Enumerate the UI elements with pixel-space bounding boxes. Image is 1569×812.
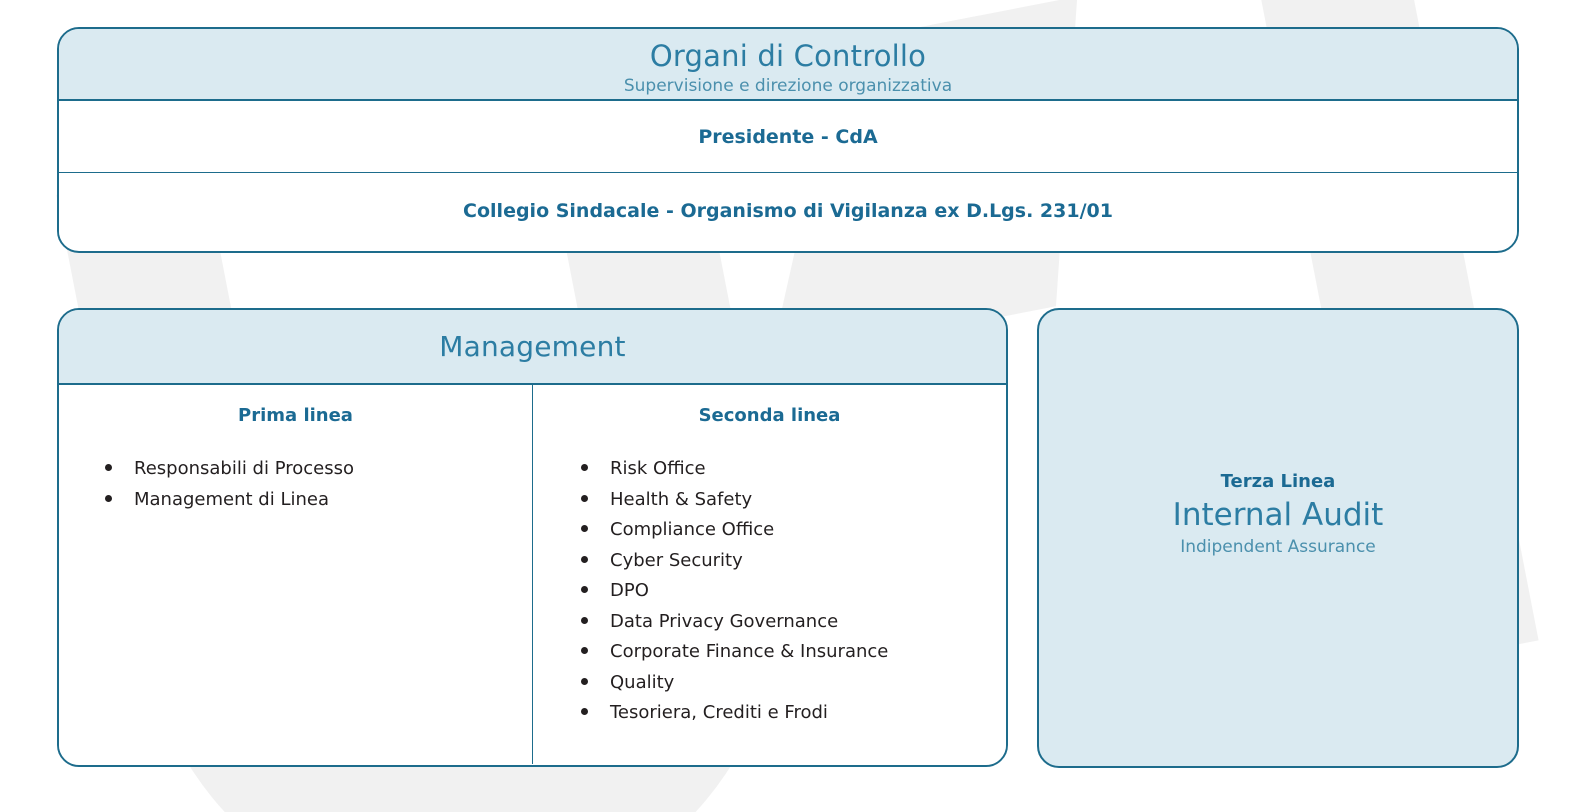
list-item: Tesoriera, Crediti e Frodi: [581, 698, 1006, 729]
governance-row-label: Collegio Sindacale - Organismo di Vigila…: [463, 200, 1113, 222]
internal-audit-content: Terza Linea Internal Audit Indipendent A…: [1173, 469, 1384, 559]
governance-title: Organi di Controllo: [59, 38, 1517, 74]
internal-audit-title: Internal Audit: [1173, 495, 1384, 535]
prima-linea-list: Responsabili di Processo Management di L…: [59, 454, 532, 515]
management-column-prima-linea: Prima linea Responsabili di Processo Man…: [59, 385, 532, 764]
list-item: Responsabili di Processo: [105, 454, 532, 485]
governance-row-presidente: Presidente - CdA: [59, 101, 1517, 173]
list-item: Corporate Finance & Insurance: [581, 637, 1006, 668]
internal-audit-eyebrow: Terza Linea: [1173, 469, 1384, 495]
list-item: Cyber Security: [581, 546, 1006, 577]
management-column-title: Prima linea: [59, 405, 532, 426]
management-columns: Prima linea Responsabili di Processo Man…: [59, 385, 1006, 764]
seconda-linea-list: Risk Office Health & Safety Compliance O…: [533, 454, 1006, 729]
governance-card-header: Organi di Controllo Supervisione e direz…: [59, 29, 1517, 101]
governance-subtitle: Supervisione e direzione organizzativa: [59, 74, 1517, 98]
list-item: DPO: [581, 576, 1006, 607]
list-item: Management di Linea: [105, 485, 532, 516]
list-item: Risk Office: [581, 454, 1006, 485]
management-card: Management Prima linea Responsabili di P…: [57, 308, 1008, 767]
management-card-header: Management: [59, 310, 1006, 385]
governance-card: Organi di Controllo Supervisione e direz…: [57, 27, 1519, 253]
diagram-canvas: Organi di Controllo Supervisione e direz…: [0, 0, 1569, 812]
governance-row-collegio: Collegio Sindacale - Organismo di Vigila…: [59, 173, 1517, 249]
list-item: Quality: [581, 668, 1006, 699]
list-item: Health & Safety: [581, 485, 1006, 516]
management-column-title: Seconda linea: [533, 405, 1006, 426]
governance-row-label: Presidente - CdA: [698, 126, 877, 148]
list-item: Compliance Office: [581, 515, 1006, 546]
management-title: Management: [439, 330, 625, 364]
internal-audit-subtitle: Indipendent Assurance: [1173, 535, 1384, 559]
management-column-seconda-linea: Seconda linea Risk Office Health & Safet…: [532, 385, 1006, 764]
internal-audit-card: Terza Linea Internal Audit Indipendent A…: [1037, 308, 1519, 768]
list-item: Data Privacy Governance: [581, 607, 1006, 638]
